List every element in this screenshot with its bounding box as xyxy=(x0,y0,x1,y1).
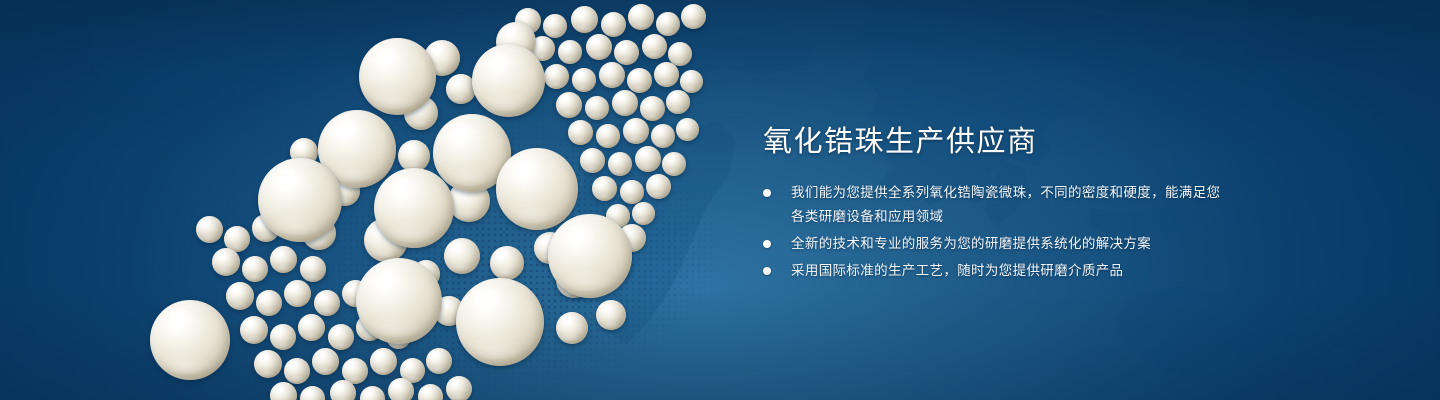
hero-banner: 氧化锆珠生产供应商 我们能为您提供全系列氧化锆陶瓷微珠，不同的密度和硬度，能满足… xyxy=(0,0,1440,400)
bullet-dot-icon xyxy=(763,189,771,197)
banner-headline: 氧化锆珠生产供应商 xyxy=(763,125,1233,159)
feature-list-item: 全新的技术和专业的服务为您的研磨提供系统化的解决方案 xyxy=(763,232,1233,256)
feature-list-item: 采用国际标准的生产工艺，随时为您提供研磨介质产品 xyxy=(763,259,1233,283)
feature-text: 我们能为您提供全系列氧化锆陶瓷微珠，不同的密度和硬度，能满足您各类研磨设备和应用… xyxy=(791,185,1220,224)
bullet-dot-icon xyxy=(763,267,771,275)
banner-text-block: 氧化锆珠生产供应商 我们能为您提供全系列氧化锆陶瓷微珠，不同的密度和硬度，能满足… xyxy=(763,106,1233,299)
feature-text: 全新的技术和专业的服务为您的研磨提供系统化的解决方案 xyxy=(791,236,1151,251)
banner-feature-list: 我们能为您提供全系列氧化锆陶瓷微珠，不同的密度和硬度，能满足您各类研磨设备和应用… xyxy=(763,181,1233,283)
feature-text: 采用国际标准的生产工艺，随时为您提供研磨介质产品 xyxy=(791,263,1123,278)
bullet-dot-icon xyxy=(763,240,771,248)
feature-list-item: 我们能为您提供全系列氧化锆陶瓷微珠，不同的密度和硬度，能满足您各类研磨设备和应用… xyxy=(763,181,1233,229)
